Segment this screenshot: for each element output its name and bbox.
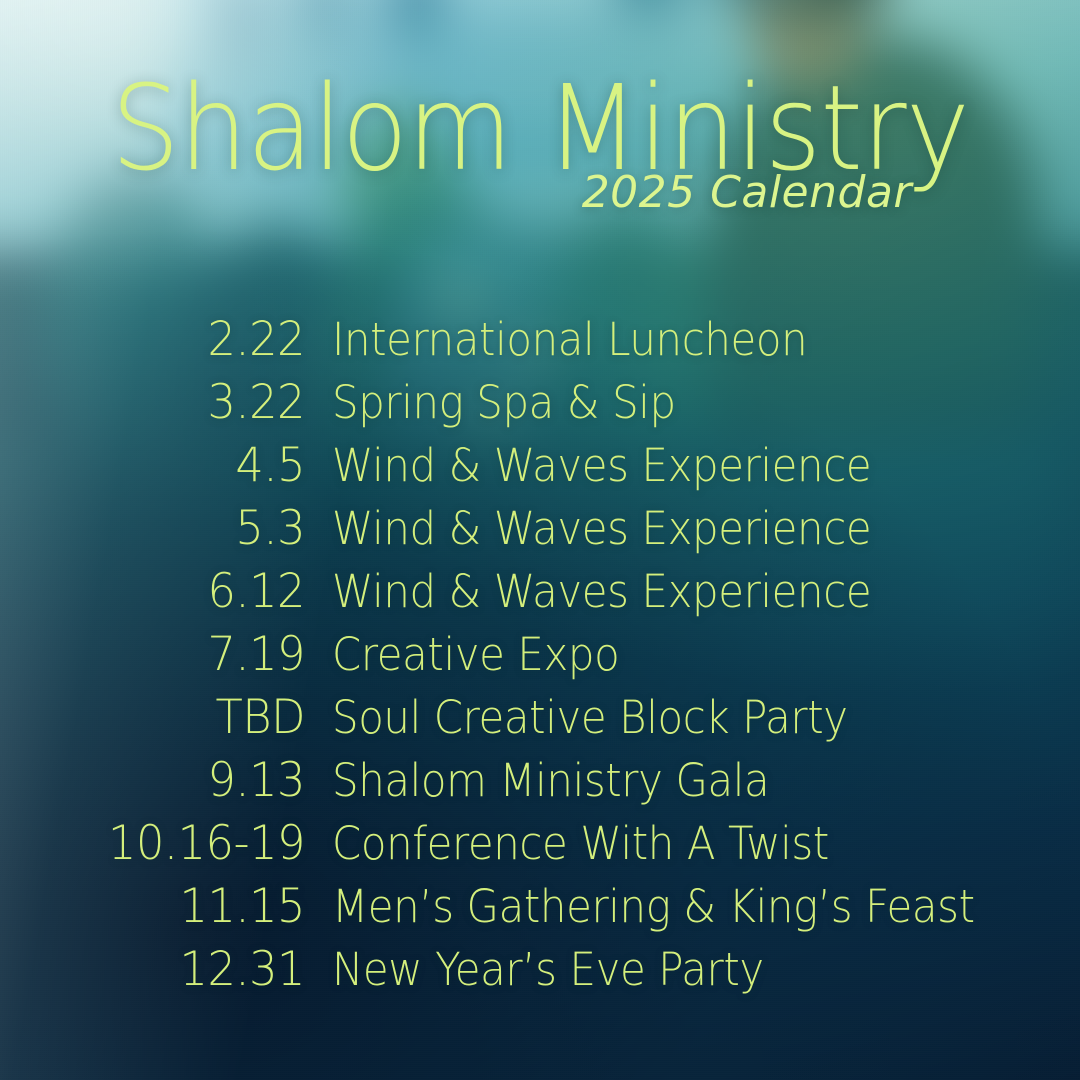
- event-title: Spring Spa & Sip: [332, 371, 676, 434]
- schedule-list: 2.22 International Luncheon 3.22 Spring …: [0, 308, 1080, 1001]
- event-title: Men’s Gathering & King’s Feast: [332, 875, 975, 938]
- event-title: International Luncheon: [332, 308, 807, 371]
- event-title: Shalom Ministry Gala: [332, 749, 769, 812]
- calendar-poster: Shalom Ministry 2025 Calendar 2.22 Inter…: [0, 0, 1080, 1080]
- event-title: Creative Expo: [332, 623, 619, 686]
- schedule-row: 2.22 International Luncheon: [0, 308, 1080, 371]
- event-title: Conference With A Twist: [332, 812, 829, 875]
- schedule-row: 11.15 Men’s Gathering & King’s Feast: [0, 875, 1080, 938]
- event-title: New Year’s Eve Party: [332, 938, 764, 1001]
- event-date: 4.5: [15, 434, 305, 497]
- schedule-row: 5.3 Wind & Waves Experience: [0, 497, 1080, 560]
- schedule-row: 6.12 Wind & Waves Experience: [0, 560, 1080, 623]
- event-date: 10.16-19: [15, 812, 305, 875]
- schedule-row: 10.16-19 Conference With A Twist: [0, 812, 1080, 875]
- event-date: 7.19: [15, 623, 305, 686]
- event-date: TBD: [15, 686, 305, 749]
- event-date: 2.22: [15, 308, 305, 371]
- event-date: 6.12: [15, 560, 305, 623]
- event-date: 11.15: [15, 875, 305, 938]
- schedule-row: 3.22 Spring Spa & Sip: [0, 371, 1080, 434]
- schedule-row: TBD Soul Creative Block Party: [0, 686, 1080, 749]
- event-title: Soul Creative Block Party: [332, 686, 848, 749]
- schedule-row: 9.13 Shalom Ministry Gala: [0, 749, 1080, 812]
- poster-content: Shalom Ministry 2025 Calendar 2.22 Inter…: [0, 0, 1080, 1080]
- title-block: Shalom Ministry 2025 Calendar: [0, 74, 1080, 215]
- event-date: 5.3: [15, 497, 305, 560]
- event-date: 3.22: [15, 371, 305, 434]
- event-title: Wind & Waves Experience: [332, 497, 871, 560]
- event-title: Wind & Waves Experience: [332, 560, 871, 623]
- schedule-row: 12.31 New Year’s Eve Party: [0, 938, 1080, 1001]
- schedule-row: 7.19 Creative Expo: [0, 623, 1080, 686]
- event-date: 9.13: [15, 749, 305, 812]
- poster-title: Shalom Ministry: [43, 74, 1037, 183]
- schedule-row: 4.5 Wind & Waves Experience: [0, 434, 1080, 497]
- event-date: 12.31: [15, 938, 305, 1001]
- event-title: Wind & Waves Experience: [332, 434, 871, 497]
